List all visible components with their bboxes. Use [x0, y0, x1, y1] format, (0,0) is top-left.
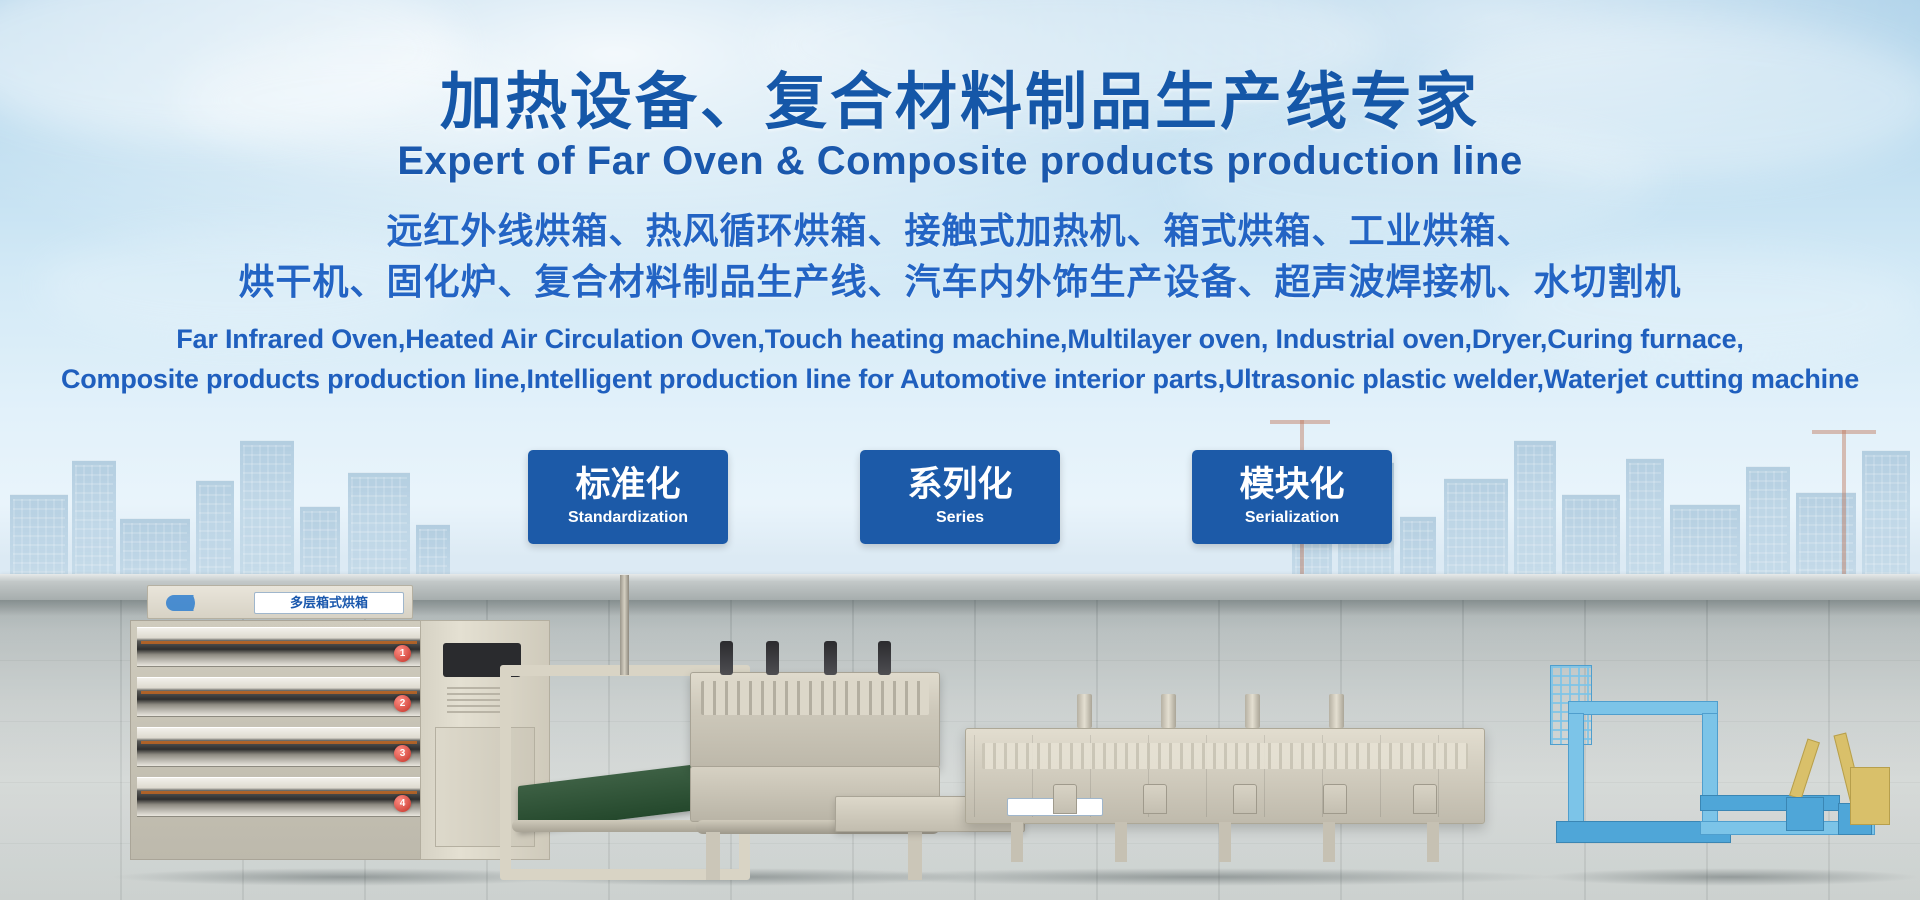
oven-shelf [137, 677, 425, 717]
exhaust-stack [1077, 694, 1092, 728]
exhaust-stack [1245, 694, 1260, 728]
exhaust-stack [1161, 694, 1176, 728]
tunnel-louver-icon [982, 743, 1468, 769]
gantry-beam [1568, 701, 1718, 715]
automation-cell [1550, 665, 1900, 865]
product-line-cn-2: 烘干机、固化炉、复合材料制品生产线、汽车内外饰生产设备、超声波焊接机、水切割机 [0, 257, 1920, 308]
oven-shelf [137, 777, 425, 817]
robot-arm [1789, 738, 1820, 799]
press-heating-head [690, 672, 940, 768]
gantry-column [1568, 713, 1584, 825]
oven-shelf [137, 727, 425, 767]
exhaust-stack [1329, 694, 1344, 728]
shelf-indicator-4: 4 [394, 795, 411, 812]
machine-shadow [1540, 868, 1920, 886]
promo-banner: 加热设备、复合材料制品生产线专家 Expert of Far Oven & Co… [0, 0, 1920, 900]
headline-english: Expert of Far Oven & Composite products … [0, 139, 1920, 184]
headline-chinese: 加热设备、复合材料制品生产线专家 [0, 70, 1920, 133]
press-mast [620, 575, 629, 675]
shelf-indicator-1: 1 [394, 645, 411, 662]
product-list-english: Far Infrared Oven,Heated Air Circulation… [0, 320, 1920, 398]
shelf-indicator-2: 2 [394, 695, 411, 712]
product-line-en-1: Far Infrared Oven,Heated Air Circulation… [0, 320, 1920, 359]
oven-label: 多层箱式烘箱 [254, 592, 404, 614]
product-list-chinese: 远红外线烘箱、热风循环烘箱、接触式加热机、箱式烘箱、工业烘箱、 烘干机、固化炉、… [0, 206, 1920, 308]
oven-shelf [137, 627, 425, 667]
banner-copy: 加热设备、复合材料制品生产线专家 Expert of Far Oven & Co… [0, 0, 1920, 399]
oven-name-plate: 多层箱式烘箱 [147, 585, 413, 619]
laminating-press-machine [500, 610, 940, 880]
oven-shelf-stack: 多层箱式烘箱 [130, 620, 430, 860]
press-legs [696, 832, 934, 880]
machine-lineup: 多层箱式烘箱 1 2 3 4 [0, 480, 1920, 900]
material-stack [1850, 767, 1890, 825]
tunnel-hatch [1413, 784, 1437, 814]
shelf-indicator-group: 1 2 3 4 [394, 630, 412, 830]
tunnel-hatch [1323, 784, 1347, 814]
tunnel-hatch [1233, 784, 1257, 814]
multilayer-box-oven: 多层箱式烘箱 1 2 3 4 [130, 620, 550, 860]
press-pin [824, 641, 837, 675]
tunnel-oven [965, 682, 1525, 862]
press-pin [766, 641, 779, 675]
shelf-indicator-3: 3 [394, 745, 411, 762]
tunnel-legs [965, 822, 1485, 862]
product-line-cn-1: 远红外线烘箱、热风循环烘箱、接触式加热机、箱式烘箱、工业烘箱、 [0, 206, 1920, 257]
press-pin [720, 641, 733, 675]
tunnel-hatch [1053, 784, 1077, 814]
press-pin [878, 641, 891, 675]
product-line-en-2: Composite products production line,Intel… [0, 360, 1920, 399]
machine-shadow [840, 868, 1560, 886]
robot-base [1786, 797, 1824, 831]
brand-logo-icon [166, 595, 212, 611]
heating-grille-icon [701, 681, 929, 715]
tunnel-hatch [1143, 784, 1167, 814]
